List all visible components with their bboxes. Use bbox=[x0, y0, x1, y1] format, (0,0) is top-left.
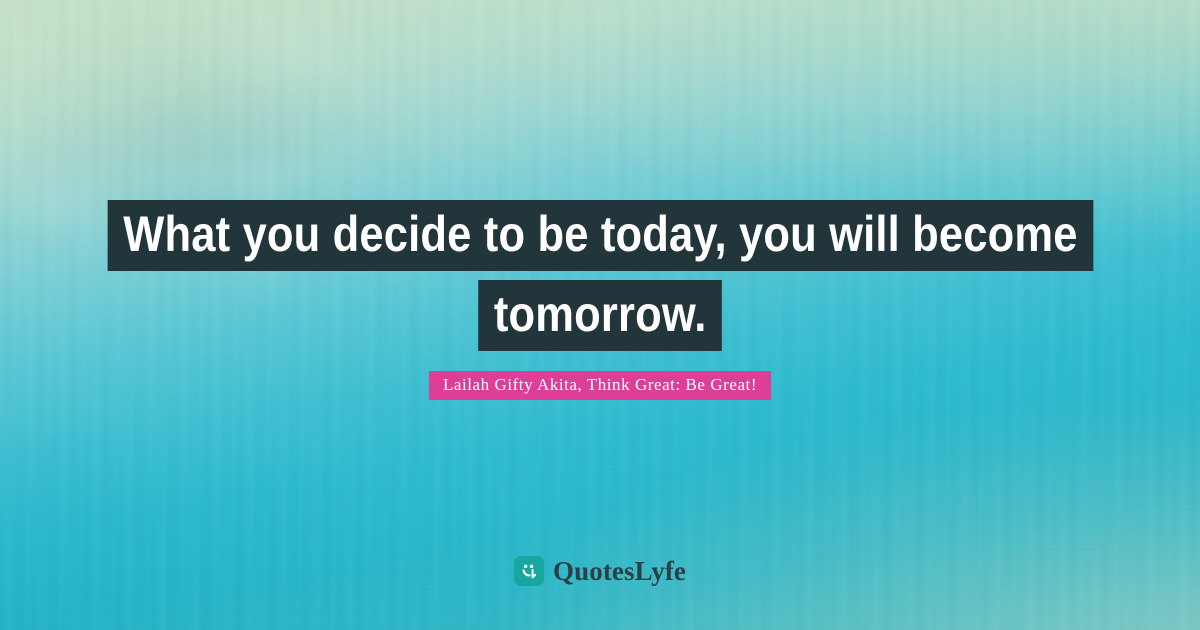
quote-line-2-text: tomorrow. bbox=[478, 280, 722, 351]
attribution-block: Lailah Gifty Akita, Think Great: Be Grea… bbox=[0, 371, 1200, 400]
brand-name: QuotesLyfe bbox=[553, 556, 686, 586]
quote-line-2: tomorrow. bbox=[0, 280, 1200, 351]
quote-line-1-text: What you decide to be today, you will be… bbox=[107, 200, 1093, 271]
quote-card: What you decide to be today, you will be… bbox=[0, 0, 1200, 630]
smiley-quote-icon bbox=[514, 556, 544, 586]
quote-text-block: What you decide to be today, you will be… bbox=[0, 200, 1200, 351]
quote-line-1: What you decide to be today, you will be… bbox=[0, 200, 1200, 271]
attribution-text: Lailah Gifty Akita, Think Great: Be Grea… bbox=[429, 371, 771, 400]
brand-logo[interactable]: QuotesLyfe bbox=[0, 556, 1200, 586]
